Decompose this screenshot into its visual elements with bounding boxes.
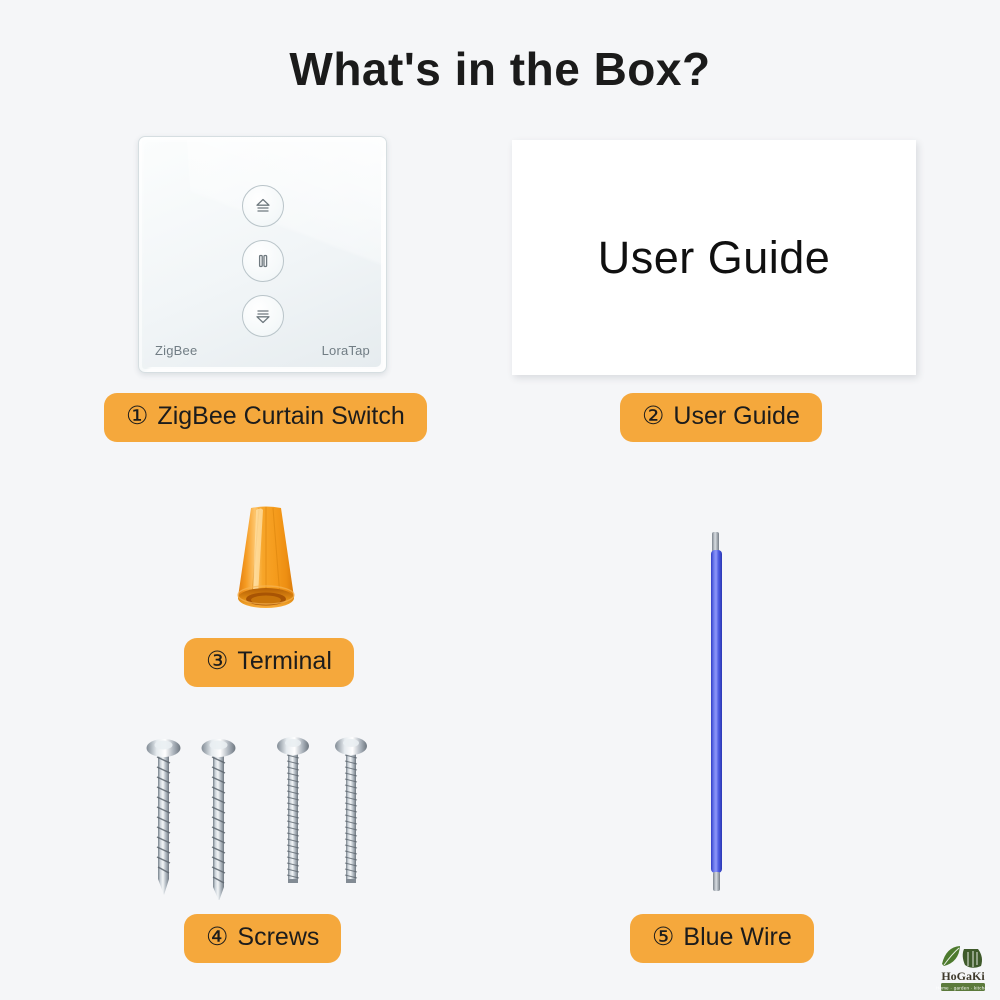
badge-number: ② xyxy=(642,404,664,429)
badge-terminal: ③ Terminal xyxy=(184,638,354,687)
badge-label: ZigBee Curtain Switch xyxy=(157,404,404,429)
machine-screw xyxy=(335,737,367,883)
badge-label: Blue Wire xyxy=(683,925,791,950)
svg-text:Home · garden · kitchen: Home · garden · kitchen xyxy=(936,985,990,990)
badge-blue-wire: ⑤ Blue Wire xyxy=(630,914,814,963)
wood-screw xyxy=(202,739,236,900)
pause-icon[interactable] xyxy=(242,240,284,282)
badge-number: ④ xyxy=(206,925,228,950)
badge-user-guide: ② User Guide xyxy=(620,393,822,442)
loratap-label: LoraTap xyxy=(322,343,370,358)
switch-panel-branding: ZigBee LoraTap xyxy=(155,343,370,358)
wood-screw xyxy=(147,739,181,895)
badge-number: ⑤ xyxy=(652,925,674,950)
zigbee-curtain-switch-image: ZigBee LoraTap xyxy=(138,136,387,373)
switch-button-column xyxy=(139,185,386,337)
machine-screw xyxy=(277,737,309,883)
blue-wire-image xyxy=(700,530,738,893)
badge-number: ① xyxy=(126,404,148,429)
badge-zigbee-curtain-switch: ① ZigBee Curtain Switch xyxy=(104,393,427,442)
screws-image xyxy=(140,735,385,900)
user-guide-image: User Guide xyxy=(512,140,916,375)
badge-screws: ④ Screws xyxy=(184,914,341,963)
product-infographic: What's in the Box? xyxy=(0,0,1000,1000)
badge-label: Screws xyxy=(237,925,319,950)
curtain-open-up-icon[interactable] xyxy=(242,185,284,227)
curtain-close-down-icon[interactable] xyxy=(242,295,284,337)
hogaki-logo: HoGaKi Home · garden · kitchen xyxy=(932,938,994,994)
terminal-connector-image xyxy=(228,505,304,620)
badge-label: Terminal xyxy=(237,649,331,674)
badge-number: ③ xyxy=(206,649,228,674)
badge-label: User Guide xyxy=(673,404,799,429)
user-guide-cover-text: User Guide xyxy=(598,232,831,284)
page-title: What's in the Box? xyxy=(0,42,1000,96)
zigbee-label: ZigBee xyxy=(155,343,197,358)
svg-text:HoGaKi: HoGaKi xyxy=(941,969,985,983)
